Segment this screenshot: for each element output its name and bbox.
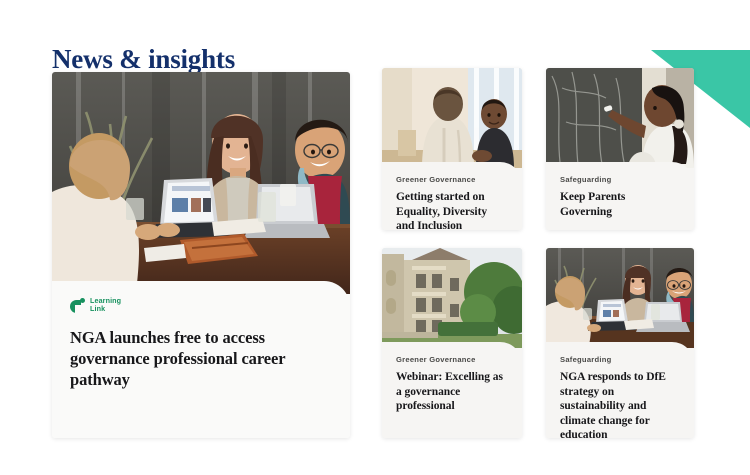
- page-title: News & insights: [52, 44, 235, 75]
- article-category-keep-parents-governing[interactable]: Safeguarding: [560, 175, 678, 184]
- article-image-dfe: [546, 248, 694, 348]
- hero-article-title[interactable]: NGA launches free to access governance p…: [70, 327, 330, 390]
- news-insights-section: News & insights: [0, 0, 750, 475]
- article-category-dfe[interactable]: Safeguarding: [560, 355, 678, 364]
- article-category-edi[interactable]: Greener Governance: [396, 175, 506, 184]
- article-card-webinar[interactable]: Greener Governance Webinar: Excelling as…: [382, 248, 522, 438]
- article-panel-webinar: Greener Governance Webinar: Excelling as…: [382, 342, 522, 438]
- article-title-keep-parents-governing[interactable]: Keep Parents Governing: [560, 190, 678, 219]
- learning-link-label-line2: Link: [90, 304, 105, 313]
- hero-article-image: [52, 72, 350, 294]
- hero-article-panel: Learning Link NGA launches free to acces…: [52, 281, 350, 438]
- article-panel-edi: Greener Governance Getting started on Eq…: [382, 162, 522, 230]
- learning-link-logo: Learning Link: [70, 297, 330, 314]
- article-panel-dfe: Safeguarding NGA responds to DfE strateg…: [546, 342, 694, 438]
- article-title-edi[interactable]: Getting started on Equality, Diversity a…: [396, 190, 506, 230]
- article-image-webinar: [382, 248, 522, 348]
- article-category-webinar[interactable]: Greener Governance: [396, 355, 506, 364]
- article-card-keep-parents-governing[interactable]: Safeguarding Keep Parents Governing: [546, 68, 694, 230]
- article-card-dfe[interactable]: Safeguarding NGA responds to DfE strateg…: [546, 248, 694, 438]
- article-title-webinar[interactable]: Webinar: Excelling as a governance profe…: [396, 370, 506, 414]
- article-title-dfe[interactable]: NGA responds to DfE strategy on sustaina…: [560, 370, 678, 438]
- article-image-edi: [382, 68, 522, 168]
- article-card-edi[interactable]: Greener Governance Getting started on Eq…: [382, 68, 522, 230]
- article-image-keep-parents-governing: [546, 68, 694, 168]
- learning-link-mark-icon: [70, 298, 85, 313]
- article-panel-keep-parents-governing: Safeguarding Keep Parents Governing: [546, 162, 694, 230]
- hero-article-card[interactable]: Learning Link NGA launches free to acces…: [52, 72, 350, 438]
